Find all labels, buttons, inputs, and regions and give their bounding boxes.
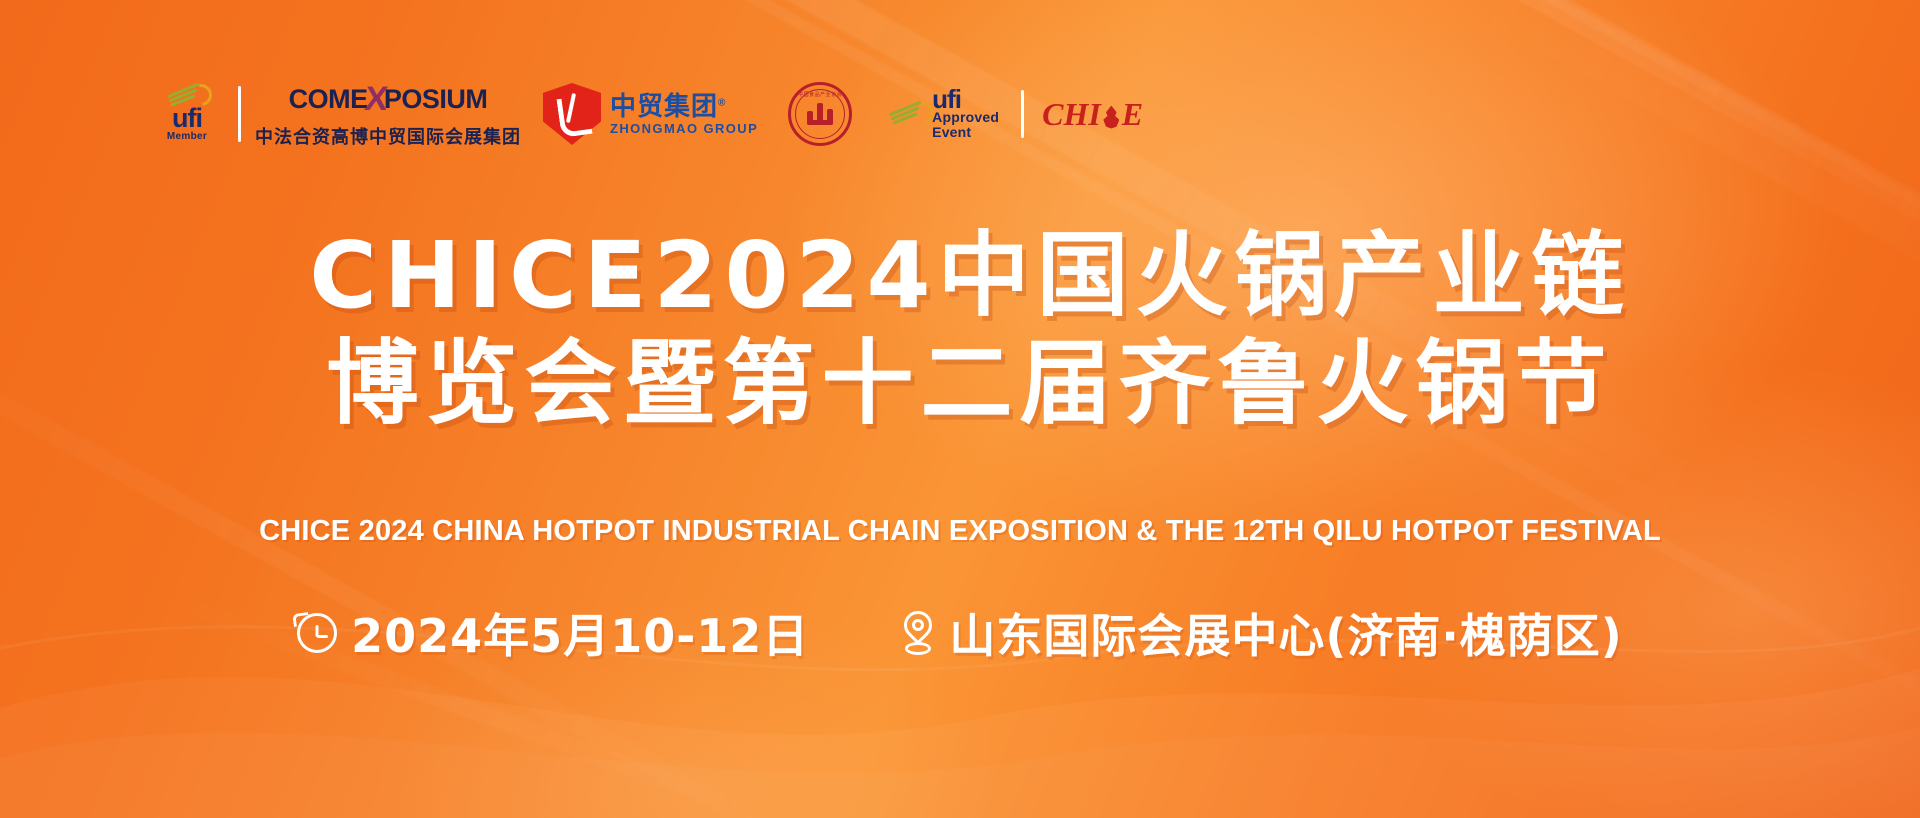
logo-chice: CHIE: [1042, 96, 1143, 133]
chice-part1: CHI: [1042, 96, 1101, 133]
logo-comexposium: COMEXPOSIUM 中法合资高博中贸国际会展集团: [255, 80, 521, 149]
ufi-approved-line1: Approved: [932, 110, 999, 125]
location-pin-icon: [901, 611, 935, 655]
logo-ufi-approved-event: ufi Approved Event: [886, 88, 999, 139]
logo-zhongmao-group: 中贸集团® ZHONGMAO GROUP: [543, 83, 758, 145]
seal-mountain-icon: [807, 103, 833, 125]
partner-logo-row: ufi Member COMEXPOSIUM 中法合资高博中贸国际会展集团 中贸…: [150, 78, 1143, 150]
clock-icon: [297, 613, 337, 653]
ufi-approved-wordmark: ufi: [932, 88, 961, 110]
comexposium-part2: POSIUM: [384, 84, 488, 115]
logo-divider: [238, 86, 241, 142]
glow-shape: [240, 520, 1140, 818]
ufi-member-label: Member: [167, 131, 207, 143]
english-subtitle: CHICE 2024 CHINA HOTPOT INDUSTRIAL CHAIN…: [0, 515, 1920, 548]
zhongmao-english-name: ZHONGMAO GROUP: [610, 122, 758, 135]
ufi-approved-wing-icon: [886, 103, 932, 125]
logo-association-seal: 中国食品产业协会: [788, 82, 852, 146]
comexposium-part1: COME: [289, 84, 368, 115]
registered-mark: ®: [718, 97, 726, 108]
event-date-text: 2024年5月10-12日: [351, 600, 809, 666]
headline-line-2: 博览会暨第十二届齐鲁火锅节: [150, 330, 1790, 438]
event-headline: CHICE2024中国火锅产业链 博览会暨第十二届齐鲁火锅节: [150, 222, 1790, 437]
seal-text: 中国食品产业协会: [798, 91, 842, 98]
headline-line-1: CHICE2024中国火锅产业链: [150, 222, 1790, 330]
flame-icon: [1102, 106, 1121, 129]
zhongmao-shield-icon: [543, 83, 601, 145]
ufi-wordmark: ufi: [172, 106, 202, 130]
logo-ufi-member: ufi Member: [150, 85, 224, 142]
logo-divider: [1021, 90, 1024, 138]
zhongmao-cn-text: 中贸集团: [610, 91, 718, 121]
event-venue-text: 山东国际会展中心(济南·槐荫区): [949, 600, 1623, 666]
ufi-wing-icon: [164, 85, 210, 107]
event-banner: ufi Member COMEXPOSIUM 中法合资高博中贸国际会展集团 中贸…: [0, 0, 1920, 818]
comexposium-chinese-name: 中法合资高博中贸国际会展集团: [255, 123, 521, 149]
zhongmao-chinese-name: 中贸集团®: [610, 93, 758, 119]
event-venue-item: 山东国际会展中心(济南·槐荫区): [901, 600, 1623, 666]
comexposium-x-glyph: X: [363, 80, 389, 119]
chice-part2: E: [1122, 96, 1143, 133]
event-date-item: 2024年5月10-12日: [297, 600, 809, 666]
event-info-row: 2024年5月10-12日 山东国际会展中心(济南·槐荫区): [0, 600, 1920, 666]
ufi-approved-line2: Event: [932, 125, 971, 140]
comexposium-wordmark: COMEXPOSIUM: [289, 80, 488, 119]
